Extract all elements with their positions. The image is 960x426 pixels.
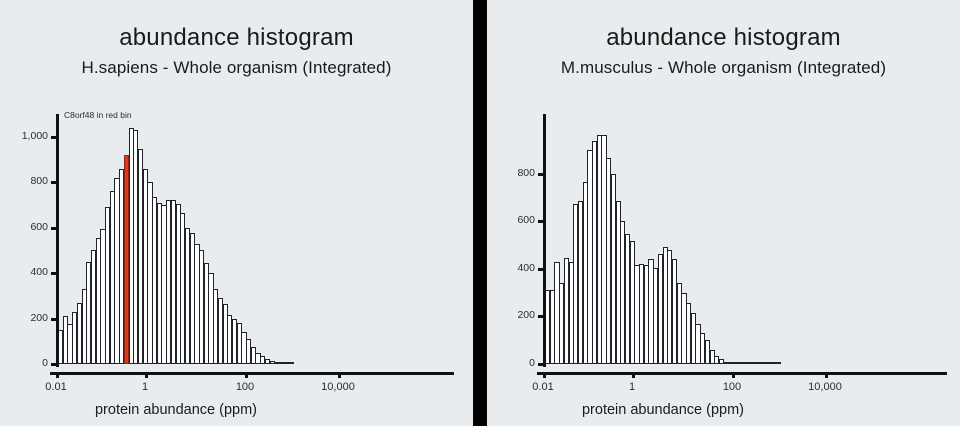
- y-tick-mark: [51, 272, 57, 275]
- x-tick-label: 10,000: [298, 381, 378, 393]
- x-tick-label: 100: [692, 381, 772, 393]
- y-tick-label: 0: [485, 357, 535, 369]
- x-tick-mark: [732, 372, 735, 378]
- y-tick-label: 400: [485, 262, 535, 274]
- x-tick-mark: [543, 372, 546, 378]
- figure-canvas: abundance histogram H.sapiens - Whole or…: [0, 0, 960, 426]
- y-tick-mark: [538, 363, 544, 366]
- y-tick-label: 200: [0, 312, 48, 324]
- y-tick-mark: [51, 136, 57, 139]
- histogram-plot: 0200400600800 0.01110010,000: [487, 0, 960, 426]
- histogram-plot: C8orf48 in red bin 02004006008001,000 0.…: [0, 0, 473, 426]
- x-tick-mark: [145, 372, 148, 378]
- y-tick-label: 400: [0, 266, 48, 278]
- x-tick-label: 0.01: [16, 381, 96, 393]
- y-tick-mark: [51, 227, 57, 230]
- y-tick-mark: [51, 181, 57, 184]
- y-tick-label: 0: [0, 357, 48, 369]
- x-tick-label: 0.01: [503, 381, 583, 393]
- panel-h-sapiens: abundance histogram H.sapiens - Whole or…: [0, 0, 473, 426]
- x-tick-mark: [632, 372, 635, 378]
- histogram-bar: [775, 362, 780, 364]
- y-tick-mark: [51, 318, 57, 321]
- y-tick-label: 600: [0, 221, 48, 233]
- y-tick-mark: [538, 220, 544, 223]
- x-axis-line: [50, 372, 454, 375]
- x-axis-line: [537, 372, 947, 375]
- histogram-bars: [58, 114, 458, 364]
- y-tick-mark: [538, 315, 544, 318]
- y-tick-mark: [538, 268, 544, 271]
- x-tick-mark: [56, 372, 59, 378]
- y-tick-mark: [538, 173, 544, 176]
- x-axis-title: protein abundance (ppm): [16, 402, 336, 418]
- x-tick-mark: [338, 372, 341, 378]
- x-axis-title: protein abundance (ppm): [503, 402, 823, 418]
- y-tick-label: 800: [0, 175, 48, 187]
- x-tick-label: 100: [205, 381, 285, 393]
- x-tick-mark: [825, 372, 828, 378]
- y-tick-label: 200: [485, 309, 535, 321]
- y-tick-mark: [51, 363, 57, 366]
- histogram-bar: [288, 362, 293, 364]
- x-tick-label: 1: [592, 381, 672, 393]
- y-tick-label: 800: [485, 167, 535, 179]
- y-axis-line: [543, 114, 546, 367]
- histogram-bars: [545, 114, 945, 364]
- y-axis-line: [56, 114, 59, 367]
- x-tick-label: 1: [105, 381, 185, 393]
- x-tick-mark: [245, 372, 248, 378]
- y-tick-label: 1,000: [0, 130, 48, 142]
- y-tick-label: 600: [485, 214, 535, 226]
- panel-m-musculus: abundance histogram M.musculus - Whole o…: [487, 0, 960, 426]
- x-tick-label: 10,000: [785, 381, 865, 393]
